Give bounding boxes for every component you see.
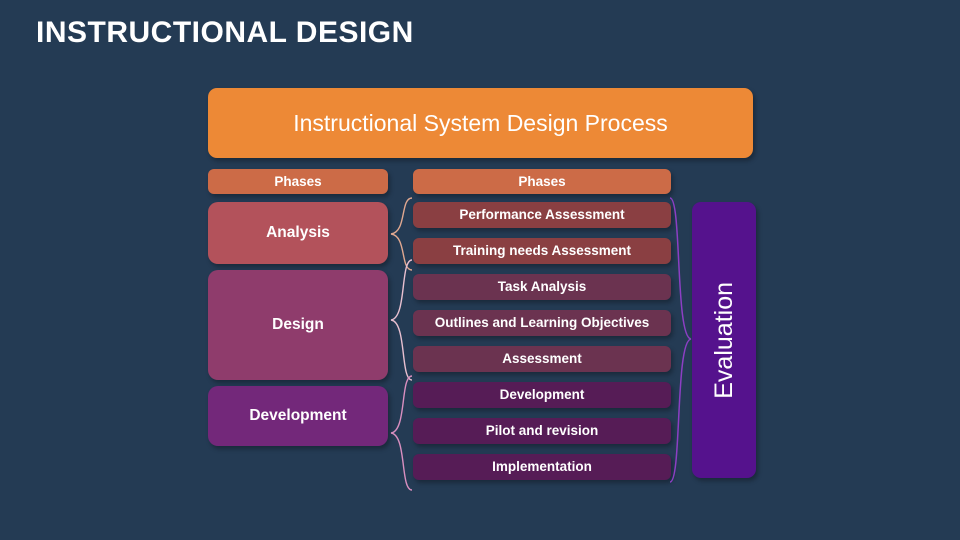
evaluation-label: Evaluation	[710, 282, 739, 399]
page-title: INSTRUCTIONAL DESIGN	[36, 16, 414, 50]
brace-development-icon	[388, 374, 414, 492]
brace-evaluation-icon	[668, 196, 694, 484]
phase-box-analysis[interactable]: Analysis	[208, 202, 388, 264]
task-row[interactable]: Outlines and Learning Objectives	[413, 310, 671, 336]
column-header-phases-right: Phases	[413, 169, 671, 194]
column-header-phases-left: Phases	[208, 169, 388, 194]
task-row[interactable]: Task Analysis	[413, 274, 671, 300]
task-row[interactable]: Implementation	[413, 454, 671, 480]
task-row[interactable]: Development	[413, 382, 671, 408]
phase-box-development[interactable]: Development	[208, 386, 388, 446]
task-row[interactable]: Training needs Assessment	[413, 238, 671, 264]
diagram-header: Instructional System Design Process	[208, 88, 753, 158]
phase-box-design[interactable]: Design	[208, 270, 388, 380]
brace-design-icon	[388, 258, 414, 382]
brace-analysis-icon	[388, 196, 414, 272]
task-row[interactable]: Assessment	[413, 346, 671, 372]
evaluation-box[interactable]: Evaluation	[692, 202, 756, 478]
task-row[interactable]: Performance Assessment	[413, 202, 671, 228]
task-row[interactable]: Pilot and revision	[413, 418, 671, 444]
